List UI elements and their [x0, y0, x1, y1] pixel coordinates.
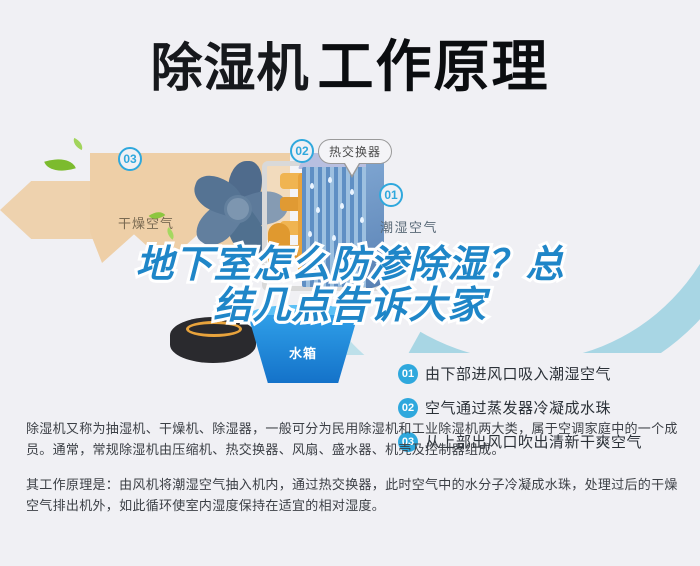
callout-badge-01: 01	[379, 183, 403, 207]
step-badge: 02	[398, 398, 418, 418]
list-item: 01 由下部进风口吸入潮湿空气	[398, 363, 694, 384]
list-item: 02 空气通过蒸发器冷凝成水珠	[398, 397, 694, 418]
overlay-line-1: 地下室怎么防渗除湿？总	[0, 245, 700, 286]
overlay-line-2: 结几点告诉大家	[0, 286, 700, 327]
overlay-headline: 地下室怎么防渗除湿？总 结几点告诉大家	[0, 245, 700, 327]
title-part-one: 除湿机	[150, 40, 309, 98]
humid-air-label: 潮湿空气	[380, 217, 438, 236]
water-tank-label: 水箱	[248, 343, 358, 362]
title-part-two: 工作原理	[318, 37, 550, 99]
fan-hub	[224, 195, 252, 223]
step-label: 由下部进风口吸入潮湿空气	[425, 363, 611, 384]
page-title: 除湿机工作原理	[0, 22, 700, 103]
dry-air-label: 干燥空气	[118, 213, 174, 232]
callout-badge-03: 03	[118, 147, 142, 171]
paragraph-two: 其工作原理是：由风机将潮湿空气抽入机内，通过热交换器，此时空气中的水分子冷凝成水…	[26, 474, 678, 516]
leaf-icon	[44, 153, 76, 177]
leaf-icon	[71, 138, 85, 150]
dry-air-arrow-tail	[0, 181, 120, 239]
callout-badge-02: 02	[290, 139, 314, 163]
step-label: 空气通过蒸发器冷凝成水珠	[425, 397, 611, 418]
step-badge: 01	[398, 364, 418, 384]
heat-exchanger-callout: 热交换器	[318, 139, 392, 164]
paragraph-one: 除湿机又称为抽湿机、干燥机、除湿器，一般可分为民用除湿机和工业除湿机两大类，属于…	[26, 418, 678, 460]
body-copy: 除湿机又称为抽湿机、干燥机、除湿器，一般可分为民用除湿机和工业除湿机两大类，属于…	[26, 418, 678, 516]
infographic-page: 除湿机工作原理 干燥空气	[0, 0, 700, 566]
